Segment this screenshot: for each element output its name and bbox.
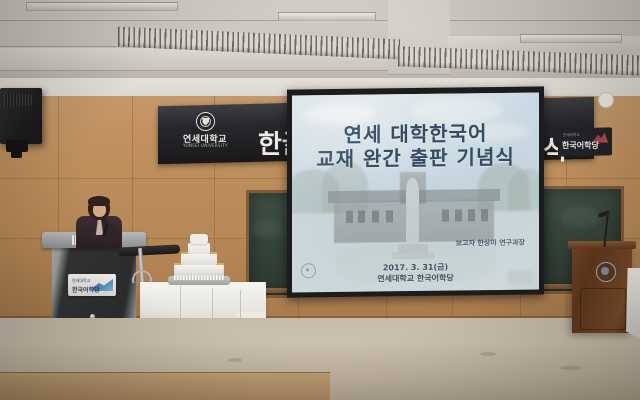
cake-tier-middle bbox=[181, 253, 217, 265]
wall-clock-icon bbox=[598, 92, 614, 108]
presenter-hair bbox=[88, 196, 110, 206]
ceiling-light bbox=[278, 12, 376, 21]
podium-plaque: 연세대학교 한국어학당 bbox=[68, 274, 116, 296]
kli-main-label: 한국어학당 bbox=[562, 140, 599, 151]
cake-topper bbox=[190, 234, 208, 244]
projection-screen: 연세 대학한국어 교재 완간 출판 기념식 보고자 한상미 연구과장 2017.… bbox=[287, 86, 544, 297]
speaker-mount-bracket bbox=[11, 150, 22, 158]
podium-plaque-line2: 한국어학당 bbox=[72, 285, 100, 294]
university-crest-icon bbox=[596, 262, 616, 282]
monument-base bbox=[392, 252, 434, 260]
underwood-statue-figure bbox=[406, 178, 419, 208]
ceiling-light bbox=[26, 2, 178, 11]
slide-title-line2: 교재 완간 출판 기념식 bbox=[292, 140, 539, 172]
auditorium-photo: 연세대학교 YONSEI UNIVERSITY 한글 식 연세대학교 한국어학당 bbox=[0, 0, 640, 400]
kli-sub-label: 연세대학교 bbox=[563, 133, 580, 138]
projected-slide: 연세 대학한국어 교재 완간 출판 기념식 보고자 한상미 연구과장 2017.… bbox=[292, 92, 539, 292]
slide-place-line: 연세대학교 한국어학당 bbox=[292, 271, 539, 285]
stage-front-edge bbox=[0, 372, 330, 400]
ceiling-light bbox=[520, 34, 622, 43]
slide-presenter-line: 보고자 한상미 연구과장 bbox=[456, 238, 525, 249]
cake-tier-top bbox=[188, 243, 210, 254]
lectern-top-surface bbox=[568, 241, 636, 249]
slide-watermark bbox=[507, 270, 533, 284]
microphone-head-icon bbox=[102, 219, 108, 225]
draped-white-cloth bbox=[626, 268, 640, 340]
podium-plaque-line1: 연세대학교 bbox=[72, 278, 90, 284]
yonsei-shield-icon bbox=[196, 112, 215, 131]
lectern-front-panel bbox=[580, 288, 626, 330]
banner-university-name-en: YONSEI UNIVERSITY bbox=[183, 143, 228, 148]
monument-column bbox=[406, 206, 419, 246]
